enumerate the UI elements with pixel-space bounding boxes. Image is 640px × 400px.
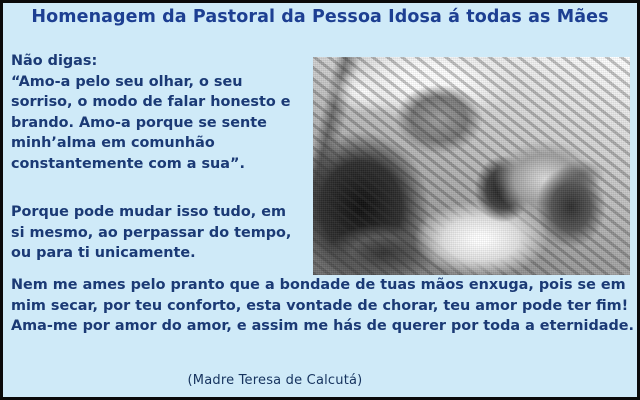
- poster-card: Homenagem da Pastoral da Pessoa Idosa á …: [0, 0, 640, 400]
- stanza-2-line-1: Porque pode mudar isso tudo, em si mesmo…: [11, 202, 299, 264]
- poem-stanza-1: Não digas: “Amo-a pelo seu olhar, o seu …: [11, 51, 299, 175]
- attribution-text: (Madre Teresa de Calcutá): [188, 373, 453, 388]
- mother-teresa-photo: [313, 57, 630, 275]
- poem-stanza-3: Nem me ames pelo pranto que a bondade de…: [11, 275, 635, 337]
- stanza-3-line-1: Nem me ames pelo pranto que a bondade de…: [11, 275, 635, 337]
- page-title: Homenagem da Pastoral da Pessoa Idosa á …: [3, 7, 637, 27]
- photo-image: [313, 57, 630, 275]
- poem-stanza-2: Porque pode mudar isso tudo, em si mesmo…: [11, 202, 299, 264]
- stanza-1-line-2: “Amo-a pelo seu olhar, o seu sorriso, o …: [11, 72, 299, 175]
- attribution: (Madre Teresa de Calcutá): [3, 373, 637, 388]
- stanza-1-line-1: Não digas:: [11, 51, 299, 72]
